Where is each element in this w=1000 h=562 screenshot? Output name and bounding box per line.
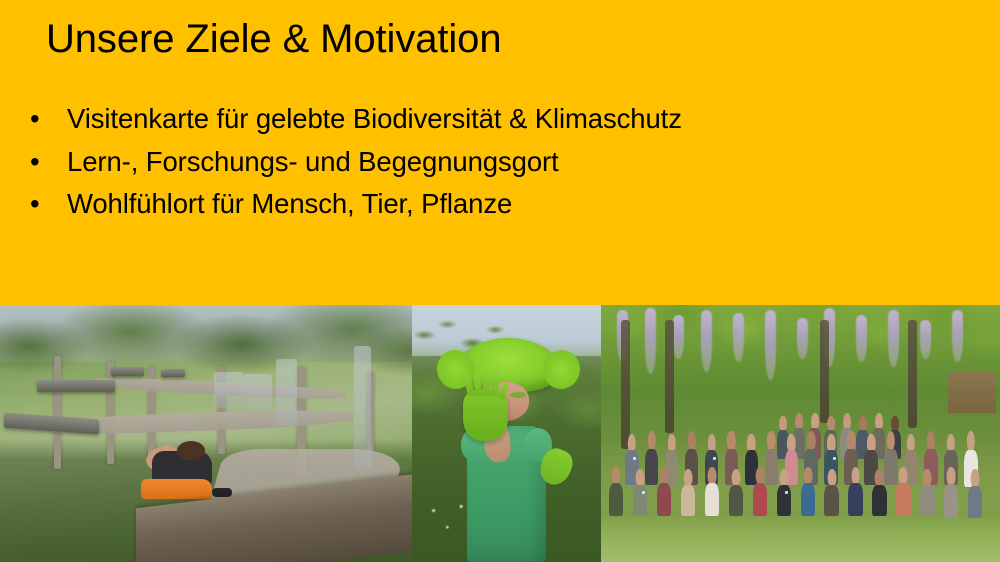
wisteria-bloom	[673, 315, 684, 359]
group-member	[645, 431, 659, 485]
person-head	[177, 441, 205, 460]
wisteria-bloom	[765, 310, 776, 379]
group-member-seated	[920, 469, 934, 515]
park-bench	[4, 412, 99, 434]
park-bench	[37, 380, 115, 393]
group-member-seated	[729, 469, 743, 515]
group-member-seated	[609, 467, 623, 516]
group-member-seated	[872, 469, 886, 515]
wisteria-bloom	[645, 308, 656, 375]
bullet-marker-icon: •	[30, 102, 50, 136]
person-torso	[824, 485, 838, 516]
pergola-post	[665, 320, 674, 433]
building-background	[948, 372, 996, 413]
person-torso	[920, 485, 934, 516]
name-badge	[642, 491, 645, 494]
person-torso	[872, 485, 886, 516]
pergola-post	[820, 320, 829, 423]
green-glove-raised	[463, 390, 508, 441]
person-torso	[645, 449, 659, 485]
page-title: Unsere Ziele & Motivation	[46, 16, 946, 63]
glove-finger	[483, 372, 490, 396]
name-badge	[713, 457, 716, 460]
bullet-marker-icon: •	[30, 187, 50, 221]
group-member-seated	[944, 467, 958, 518]
person-torso	[848, 483, 862, 516]
group-member-seated	[896, 467, 910, 516]
wisteria-bloom	[952, 310, 963, 361]
wisteria-bloom	[701, 310, 712, 372]
pergola-post	[908, 320, 917, 428]
park-with-benches-photo	[0, 305, 412, 562]
person-orange-jacket	[141, 479, 212, 498]
group-member-seated	[633, 469, 647, 515]
person-torso	[633, 485, 647, 516]
person-torso	[681, 485, 695, 516]
group-member-seated	[657, 467, 671, 516]
overlay-panel	[214, 372, 243, 408]
bullet-text: Lern-, Forschungs- und Begegnungsgort	[67, 146, 559, 177]
overlay-panel	[243, 374, 272, 410]
list-item: • Visitenkarte für gelebte Biodiversität…	[22, 102, 962, 136]
wisteria-bloom	[797, 318, 808, 359]
presentation-slide: Unsere Ziele & Motivation • Visitenkarte…	[0, 0, 1000, 562]
list-item: • Wohlfühlort für Mensch, Tier, Pflanze	[22, 187, 962, 221]
tree-trunk	[107, 362, 114, 465]
group-member-seated	[753, 467, 767, 516]
photo-strip	[0, 305, 1000, 562]
green-costume-person-photo	[412, 305, 601, 562]
person-torso	[705, 483, 719, 516]
lawn-foreground	[601, 511, 1000, 562]
wisteria-bloom	[920, 320, 931, 359]
group-member	[765, 431, 779, 485]
group-member-seated	[681, 469, 695, 515]
overlay-panel	[276, 359, 297, 426]
person-torso	[609, 483, 623, 516]
person-torso	[729, 485, 743, 516]
park-bench	[111, 367, 144, 376]
green-face-paint	[510, 392, 526, 397]
wisteria-bloom	[733, 313, 744, 362]
overlay-post	[354, 346, 370, 469]
person-torso	[753, 483, 767, 516]
group-photo-under-wisteria	[601, 305, 1000, 562]
person-torso	[801, 483, 815, 516]
tree-trunk	[54, 356, 61, 469]
person-torso	[777, 485, 791, 516]
wisteria-bloom	[888, 310, 899, 367]
name-badge	[833, 457, 836, 460]
park-bench	[161, 369, 186, 377]
group-member	[884, 431, 898, 485]
list-item: • Lern-, Forschungs- und Begegnungsgort	[22, 145, 962, 179]
bullet-text: Wohlfühlort für Mensch, Tier, Pflanze	[67, 188, 512, 219]
group-member-seated	[824, 469, 838, 515]
bullet-text: Visitenkarte für gelebte Biodiversität &…	[67, 103, 682, 134]
person-torso	[896, 483, 910, 516]
pergola-post	[621, 320, 630, 449]
group-member-seated	[968, 469, 982, 518]
group-member-seated	[705, 467, 719, 516]
person-torso	[765, 449, 779, 485]
group-member-seated	[777, 469, 791, 515]
person-torso	[944, 484, 958, 518]
wisteria-bloom	[856, 315, 867, 361]
person-torso	[657, 483, 671, 516]
group-member-seated	[848, 467, 862, 516]
bullet-list: • Visitenkarte für gelebte Biodiversität…	[22, 102, 962, 230]
person-torso	[968, 486, 982, 519]
group-member-seated	[801, 467, 815, 516]
seated-person	[144, 439, 226, 496]
bullet-marker-icon: •	[30, 145, 50, 179]
